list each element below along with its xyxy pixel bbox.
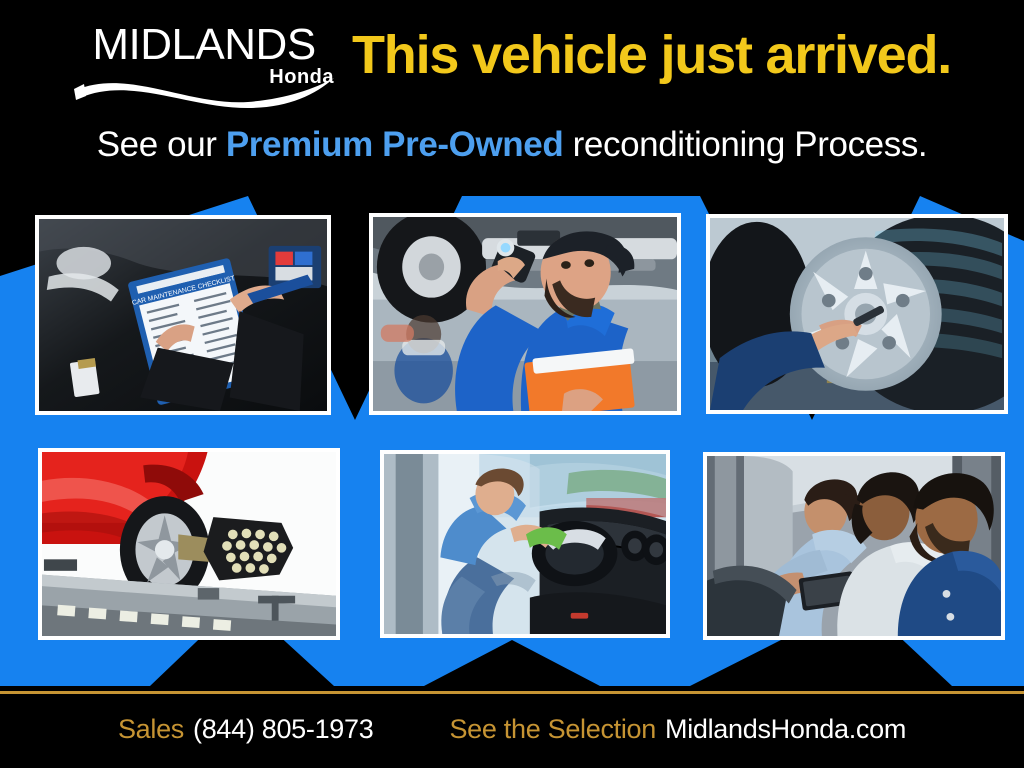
wheel-alignment-photo — [38, 448, 340, 640]
ad-footer: Sales(844) 805-1973See the SelectionMidl… — [0, 694, 1024, 768]
see-selection-label: See the Selection — [449, 714, 656, 744]
ad-banner: MIDLANDS Honda This vehicle just arrived… — [0, 0, 1024, 768]
interior-detailing-photo — [380, 450, 670, 638]
subheadline-suffix: reconditioning Process. — [563, 125, 927, 164]
subheadline-prefix: See our — [97, 125, 226, 164]
customer-delivery-photo — [703, 452, 1005, 640]
engine-bay-checklist-photo: CAR MAINTENANCE CHECKLIST — [35, 215, 331, 415]
website-link[interactable]: MidlandsHonda.com — [665, 714, 906, 744]
subheadline: See our Premium Pre-Owned reconditioning… — [0, 124, 1024, 166]
subheadline-highlight: Premium Pre-Owned — [226, 125, 563, 164]
wheel-tire-inspection-photo — [706, 214, 1008, 414]
sales-label: Sales — [118, 714, 184, 744]
logo-wordmark: MIDLANDS — [68, 22, 340, 68]
logo-sub-wordmark: Honda — [269, 67, 334, 87]
midlands-honda-logo: MIDLANDS Honda — [68, 22, 340, 97]
ad-header: MIDLANDS Honda This vehicle just arrived… — [0, 0, 1024, 180]
headline: This vehicle just arrived. — [352, 24, 951, 86]
undercarriage-inspection-photo — [369, 213, 681, 415]
sales-phone[interactable]: (844) 805-1973 — [193, 714, 373, 744]
